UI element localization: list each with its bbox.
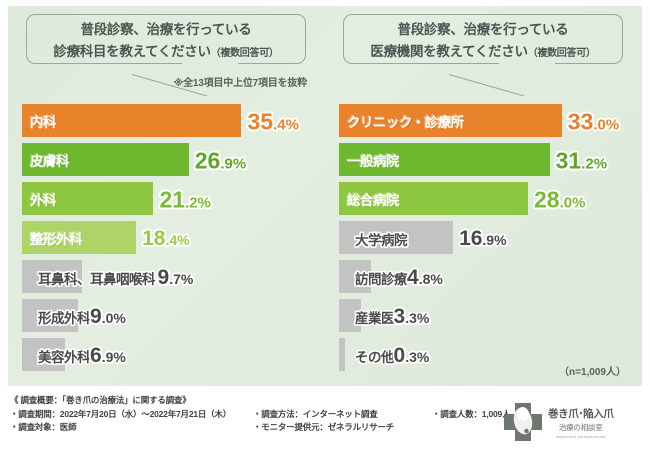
bar-row: クリニック・診療所33.0% xyxy=(339,102,632,141)
right-question-line1: 普段診察、治療を行っている xyxy=(398,18,569,38)
sample-size-label: （n=1,009人） xyxy=(559,363,626,378)
monitor-provider: ・モニター提供元：ゼネラルリサーチ xyxy=(253,421,394,434)
bar-category-label: 内科 xyxy=(22,111,56,131)
bar-value-label: 26.9% xyxy=(195,147,246,174)
bar-row: 産業医3.3% xyxy=(339,297,632,336)
bar-row: 内科35.4% xyxy=(22,102,315,141)
right-question-suffix: （複数回答可） xyxy=(528,48,596,59)
left-chart-note: ※全13項目中上位7項目を抜粋 xyxy=(8,74,325,89)
bar-category-label: 耳鼻科、耳鼻咽喉科 xyxy=(30,268,155,288)
footer-column-3: ・調査人数：1,009人 xyxy=(432,408,510,421)
bar-fill: クリニック・診療所 xyxy=(339,104,562,137)
bar-value-label: 9.0% xyxy=(90,305,126,329)
bar-value-label: 31.2% xyxy=(556,147,607,174)
logo-sub-text: 治療の相談室 xyxy=(559,422,603,433)
bar-fill: 一般病院 xyxy=(339,143,550,176)
left-question-line2: 診療科目を教えてください（複数回答可） xyxy=(53,40,278,60)
bar-fill xyxy=(339,338,345,371)
infographic-panel: 普段診察、治療を行っている 診療科目を教えてください（複数回答可） ※全13項目… xyxy=(8,6,642,386)
bar-category-label: その他 xyxy=(347,346,394,366)
right-question-bubble: 普段診察、治療を行っている 医療機関を教えてください（複数回答可） xyxy=(339,14,627,64)
bar-category-label: クリニック・診療所 xyxy=(339,111,464,131)
bar-fill: 皮膚科 xyxy=(22,143,189,176)
logo-main-text: 巻き爪･陥入爪 xyxy=(548,406,613,421)
bar-fill: 整形外科 xyxy=(22,221,136,254)
bar-value-label: 18.4% xyxy=(142,227,189,251)
bar-category-label: 一般病院 xyxy=(339,150,399,170)
left-question-line2-main: 診療科目を教えてください xyxy=(53,44,210,59)
footer-column-1: ・調査期間：2022年7月20日（水）～2022年7月21日（木） ・調査対象：… xyxy=(10,408,231,433)
survey-period: ・調査期間：2022年7月20日（水）～2022年7月21日（木） xyxy=(10,408,231,421)
bar-value-label: 28.0% xyxy=(534,186,585,213)
footer-heading: 《 調査概要：「巻き爪の治療法」に関する調査》 xyxy=(10,394,191,406)
left-question-bubble: 普段診察、治療を行っている 診療科目を教えてください（複数回答可） xyxy=(22,14,310,64)
left-chart-column: 普段診察、治療を行っている 診療科目を教えてください（複数回答可） ※全13項目… xyxy=(8,6,325,386)
bar-category-label: 訪問診療 xyxy=(347,268,407,288)
bar-fill: 総合病院 xyxy=(339,182,528,215)
bar-row: 整形外科18.4% xyxy=(22,219,315,258)
survey-method: ・調査方法：インターネット調査 xyxy=(253,408,394,421)
left-question-suffix: （複数回答可） xyxy=(211,48,279,59)
footer: 《 調査概要：「巻き爪の治療法」に関する調査》 ・調査期間：2022年7月20日… xyxy=(0,392,650,450)
bar-row: 美容外科6.9% xyxy=(22,336,315,375)
bar-value-label: 33.0% xyxy=(568,108,619,135)
bar-category-label: 大学病院 xyxy=(347,229,407,249)
bar-category-label: 産業医 xyxy=(347,307,394,327)
bar-category-label: 形成外科 xyxy=(30,307,90,327)
bar-row: 大学病院16.9% xyxy=(339,219,632,258)
bar-row: 形成外科9.0% xyxy=(22,297,315,336)
bar-value-label: 16.9% xyxy=(459,227,506,251)
survey-target: ・調査対象：医師 xyxy=(10,421,231,434)
right-bar-list: クリニック・診療所33.0%一般病院31.2%総合病院28.0%大学病院16.9… xyxy=(339,102,632,375)
bar-row: 訪問診療4.8% xyxy=(339,258,632,297)
survey-count: ・調査人数：1,009人 xyxy=(432,408,510,421)
bar-value-label: 9.7% xyxy=(158,266,194,290)
bar-row: 一般病院31.2% xyxy=(339,141,632,180)
bar-value-label: 35.4% xyxy=(247,108,298,135)
toe-nail-cross-icon xyxy=(502,401,544,443)
bar-value-label: 6.9% xyxy=(90,344,126,368)
bar-category-label: 皮膚科 xyxy=(22,150,69,170)
logo-text: 巻き爪･陥入爪 治療の相談室 makizume kannyuuzume xyxy=(548,406,613,439)
bar-category-label: 整形外科 xyxy=(22,228,82,248)
left-bar-list: 内科35.4%皮膚科26.9%外科21.2%整形外科18.4%耳鼻科、耳鼻咽喉科… xyxy=(22,102,315,375)
bar-category-label: 総合病院 xyxy=(339,189,399,209)
left-question-line1: 普段診察、治療を行っている xyxy=(81,18,252,38)
footer-column-2: ・調査方法：インターネット調査 ・モニター提供元：ゼネラルリサーチ xyxy=(253,408,394,433)
bar-row: 耳鼻科、耳鼻咽喉科9.7% xyxy=(22,258,315,297)
bar-value-label: 0.3% xyxy=(394,344,430,368)
brand-logo: 巻き爪･陥入爪 治療の相談室 makizume kannyuuzume xyxy=(502,398,642,446)
logo-romaji: makizume kannyuuzume xyxy=(556,434,606,439)
bar-row: 総合病院28.0% xyxy=(339,180,632,219)
right-question-line2: 医療機関を教えてください（複数回答可） xyxy=(370,40,595,60)
bar-fill: 内科 xyxy=(22,104,241,137)
right-chart-column: 普段診察、治療を行っている 医療機関を教えてください（複数回答可） クリニック・… xyxy=(325,6,642,386)
bar-value-label: 21.2% xyxy=(159,186,210,213)
bar-fill: 外科 xyxy=(22,182,153,215)
bar-category-label: 美容外科 xyxy=(30,346,90,366)
bar-row: 皮膚科26.9% xyxy=(22,141,315,180)
bar-category-label: 外科 xyxy=(22,189,56,209)
right-question-line2-main: 医療機関を教えてください xyxy=(370,44,527,59)
bubble-tail xyxy=(449,74,524,97)
bar-value-label: 4.8% xyxy=(407,266,443,290)
bar-value-label: 3.3% xyxy=(394,305,430,329)
bar-row: 外科21.2% xyxy=(22,180,315,219)
